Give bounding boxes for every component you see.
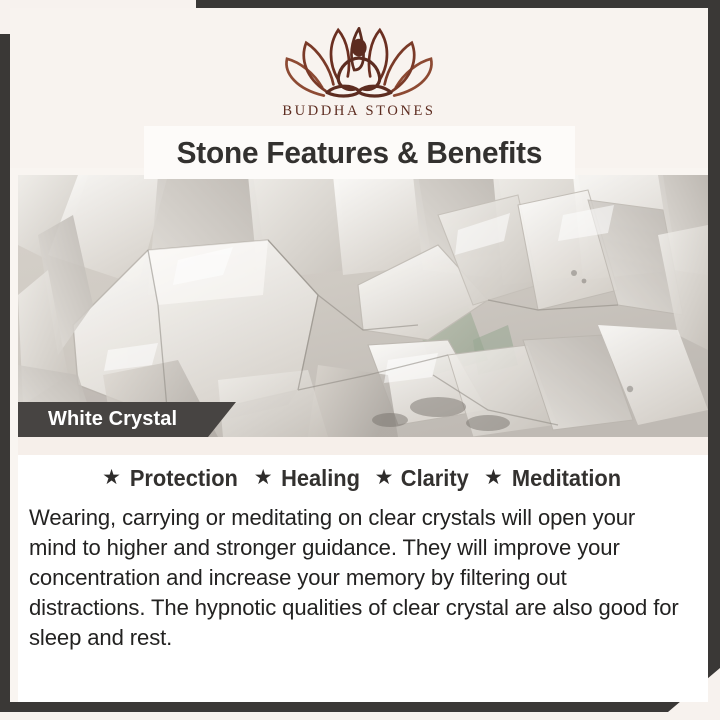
- stone-name-banner: White Crystal: [18, 402, 236, 437]
- benefit-item-healing: ★ Healing: [254, 465, 362, 492]
- benefit-label: Healing: [281, 465, 360, 492]
- benefit-label: Meditation: [512, 465, 621, 492]
- lotus-meditation-figure-icon: [279, 22, 439, 98]
- description-section: ★ Protection ★ Healing ★ Clarity ★ Medit…: [18, 455, 708, 702]
- star-icon: ★: [102, 467, 121, 488]
- star-icon: ★: [375, 467, 394, 488]
- benefit-item-clarity: ★ Clarity: [375, 465, 471, 492]
- infographic-poster: BUDDHA STONES Stone Features & Benefits: [0, 0, 720, 720]
- title-band: Stone Features & Benefits: [144, 126, 575, 179]
- benefit-label: Protection: [130, 465, 238, 492]
- benefits-list: ★ Protection ★ Healing ★ Clarity ★ Medit…: [18, 465, 708, 492]
- description-text: Wearing, carrying or meditating on clear…: [29, 503, 687, 653]
- star-icon: ★: [484, 467, 503, 488]
- brand-name: BUDDHA STONES: [282, 103, 435, 120]
- separator-strip: [18, 437, 708, 455]
- benefit-item-protection: ★ Protection: [102, 465, 241, 492]
- page-title: Stone Features & Benefits: [177, 135, 543, 171]
- white-crystal-cluster-photo: [18, 175, 708, 437]
- star-icon: ★: [254, 467, 273, 488]
- brand-logo: BUDDHA STONES: [10, 22, 708, 120]
- benefit-item-meditation: ★ Meditation: [484, 465, 624, 492]
- benefit-label: Clarity: [401, 465, 469, 492]
- stone-name-label: White Crystal: [48, 408, 177, 431]
